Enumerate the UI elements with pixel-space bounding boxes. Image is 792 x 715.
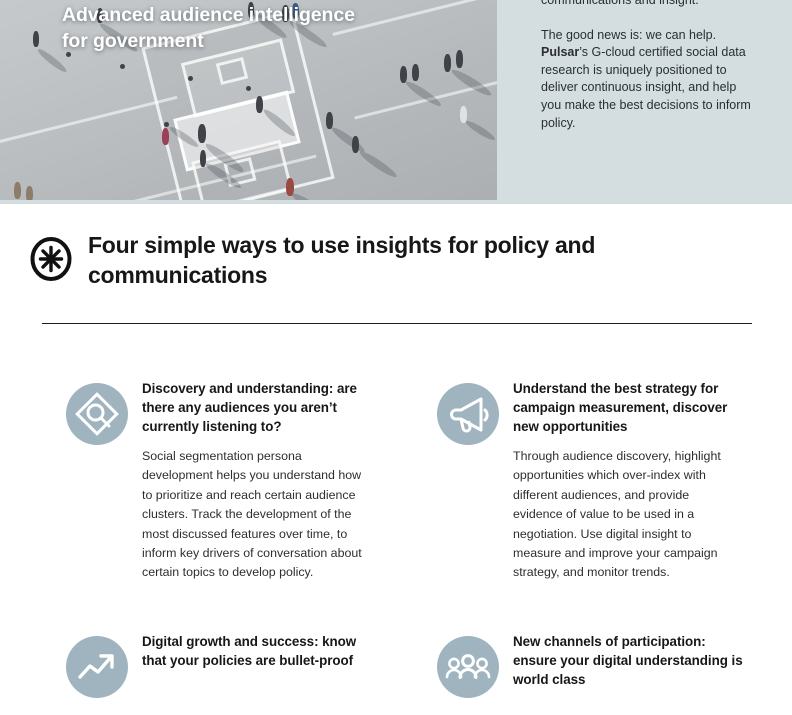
insight-card-title: Discovery and understanding: are there a… (142, 379, 366, 436)
person-figure (460, 106, 467, 123)
insight-card: Digital growth and success: know that yo… (66, 632, 366, 698)
section-title: Four simple ways to use insights for pol… (88, 230, 608, 290)
hero-title-line-2: for government (62, 28, 462, 54)
insight-card-text: New channels of participation: ensure yo… (513, 632, 747, 700)
magnifier-diamond-icon (66, 383, 128, 445)
insight-card-title: New channels of participation: ensure yo… (513, 632, 747, 689)
insight-card: Discovery and understanding: are there a… (66, 379, 366, 583)
person-figure (326, 112, 333, 129)
person-figure (26, 186, 33, 200)
person-figure (164, 122, 169, 127)
section-heading-row: Four simple ways to use insights for pol… (28, 230, 608, 290)
insights-section: Four simple ways to use insights for pol… (0, 204, 792, 715)
person-figure (400, 66, 407, 83)
panel-brand-name: Pulsar (541, 45, 579, 59)
three-people-icon (437, 636, 499, 698)
megaphone-icon (437, 383, 499, 445)
person-figure (120, 64, 125, 69)
trend-up-arrow-icon (66, 636, 128, 698)
insight-card-text: Discovery and understanding: are there a… (142, 379, 366, 583)
insight-card-title: Digital growth and success: know that yo… (142, 632, 366, 670)
person-figure (198, 124, 206, 143)
person-figure (246, 86, 251, 91)
person-figure (188, 76, 193, 81)
person-figure (14, 182, 21, 199)
insight-card-text: Understand the best strategy for campaig… (513, 379, 737, 583)
person-figure (33, 31, 39, 47)
hero-panel-text: communications and insight. The good new… (541, 0, 756, 149)
hero-side-panel: communications and insight. The good new… (497, 0, 792, 204)
person-figure (162, 128, 169, 145)
person-figure (256, 96, 263, 113)
person-figure (412, 64, 419, 81)
insight-card-title: Understand the best strategy for campaig… (513, 379, 737, 436)
person-figure (286, 178, 294, 196)
panel-lead-sentence: The good news is: we can help. (541, 28, 716, 42)
hero-title-line-1: Advanced audience intelligence (62, 2, 462, 28)
panel-paragraph-clipped: communications and insight. (541, 0, 756, 10)
hero-title: Advanced audience intelligence for gover… (62, 2, 462, 54)
section-divider (42, 323, 752, 324)
panel-paragraph-main: The good news is: we can help.Pulsar’s G… (541, 27, 756, 133)
person-figure (200, 150, 206, 167)
person-figure (444, 54, 451, 72)
insight-card: Understand the best strategy for campaig… (437, 379, 737, 583)
insight-card-text: Digital growth and success: know that yo… (142, 632, 366, 681)
insight-card-body: Through audience discovery, highlight op… (513, 447, 737, 583)
insight-card: New channels of participation: ensure yo… (437, 632, 747, 700)
pulsar-asterisk-logo-icon (28, 236, 74, 282)
hero-banner: Advanced audience intelligence for gover… (0, 0, 792, 204)
person-figure (352, 136, 359, 153)
insight-card-body: Social segmentation persona development … (142, 447, 366, 583)
